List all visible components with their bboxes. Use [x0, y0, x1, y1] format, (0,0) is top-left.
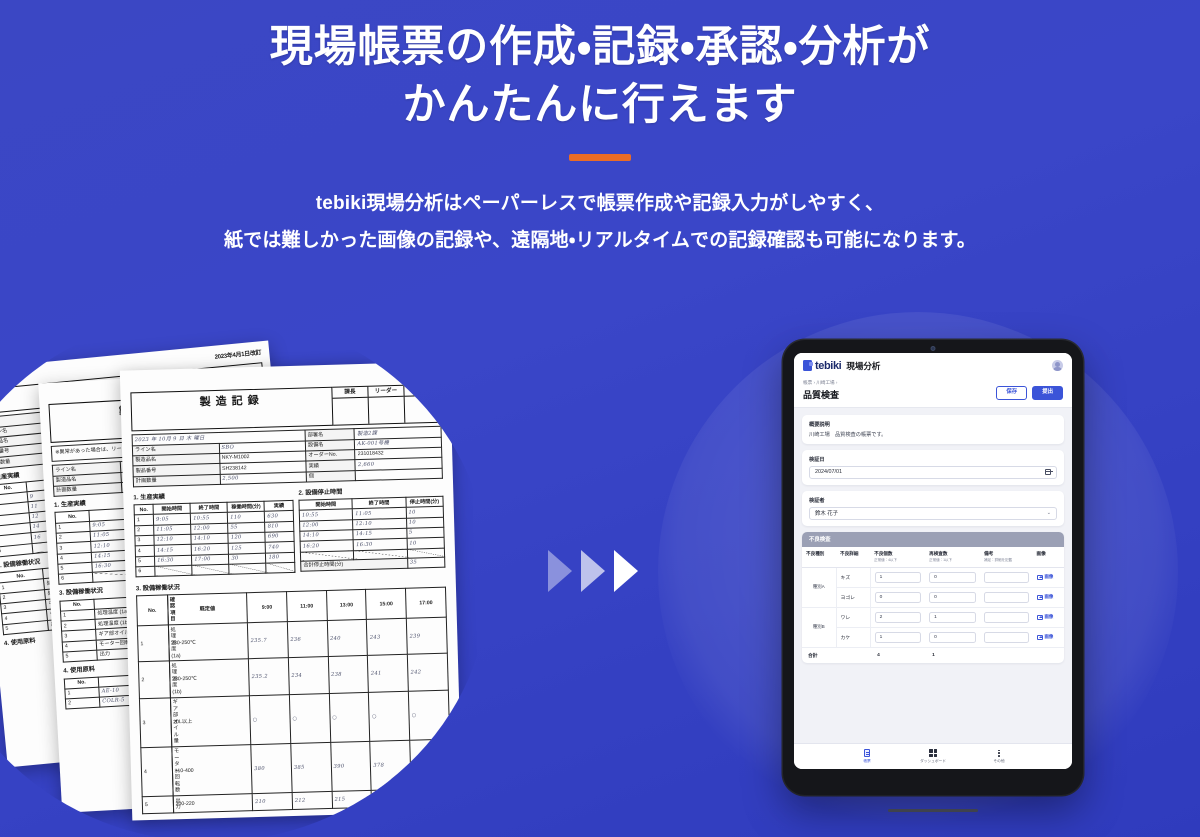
paper-s3f-t4: 17:00 [406, 588, 447, 619]
defect-col-detail-title: 不良詳細 [840, 551, 858, 556]
defect-image-link[interactable]: 画像 [1037, 594, 1060, 600]
paper-s3f-v: 210 [252, 793, 292, 811]
defect-note-cell [980, 587, 1032, 607]
paper-s1f-no: 4 [135, 546, 154, 557]
defect-image-link[interactable]: 画像 [1037, 614, 1060, 620]
table-row: ヨゴレ 0 0 画像 [802, 587, 1064, 607]
paper-s1m-no: 6 [58, 572, 93, 584]
paper-documents-group: 2023年4月1日改訂 製造記録 年2023 年 10月 9 日 木 曜日 ライ… [0, 312, 490, 837]
defect-col-note-sub: 補足：詳細を記載 [984, 558, 1028, 563]
defect-count-cell: 0 [870, 587, 925, 607]
avatar[interactable] [1052, 360, 1063, 371]
home-indicator [888, 809, 978, 812]
inspector-card: 検証者 鈴木 花子 ⌄ [802, 491, 1064, 526]
defect-col-recheck-title: 再検査数 [929, 551, 947, 556]
defect-recheck-cell: 0 [925, 567, 980, 587]
defect-col-detail: 不良詳細 [836, 547, 870, 568]
save-button[interactable]: 保存 [996, 386, 1027, 399]
defect-table: 不良種別 不良詳細 不良個数 正常値：4以下 再検査数 正常 [802, 547, 1064, 663]
camera-icon [931, 346, 936, 351]
paper-s3f-t0: 9:00 [247, 592, 288, 623]
paper-sheet-front: 2023年4月1日改訂 製造記録 課長 リーダー 担当者 20 [120, 361, 462, 820]
overview-card: 概要説明 川崎工場 品質検査の帳票です。 [802, 415, 1064, 444]
breadcrumb[interactable]: 帳票 › 川崎工場 › [803, 380, 839, 386]
defect-detail-name: ワレ [836, 607, 870, 627]
defect-image-cell: 画像 [1033, 587, 1064, 607]
paper-plan-value-front: 2,500 [220, 472, 307, 485]
nav-label-forms: 帳票 [863, 759, 870, 764]
arrow-icon-3 [614, 550, 638, 592]
paper-s3f-col-2: 既定値 [167, 593, 247, 625]
overview-label: 概要説明 [809, 421, 1057, 428]
paper-s3f-v: 235.2 [249, 658, 290, 695]
image-icon [1037, 635, 1043, 640]
defect-col-note-title: 備考 [984, 551, 993, 556]
image-icon [1037, 615, 1043, 620]
defect-recheck-input[interactable]: 1 [929, 612, 976, 623]
defect-image-cell: 画像 [1033, 607, 1064, 627]
paper-s3f-v: ○ [369, 691, 410, 741]
defect-col-recheck-sub: 正常値：1以下 [929, 558, 976, 563]
app-header: tebiki 現場分析 [794, 353, 1072, 378]
paper-s3f-no: 3 [139, 698, 171, 748]
inspect-date-label: 検証日 [809, 456, 1057, 463]
defect-count-input[interactable]: 1 [875, 632, 922, 643]
defect-image-label: 画像 [1045, 614, 1054, 620]
paper-s3f-v: 234 [288, 657, 329, 694]
nav-label-dashboard: ダッシュボード [920, 759, 946, 764]
paper-s3f-v: 243 [367, 618, 408, 655]
approval-box-front: 課長 リーダー 担当者 [332, 383, 441, 426]
defect-total-note [980, 647, 1032, 663]
paper-s3f-v: 380 [251, 744, 292, 794]
arrow-icon-1 [548, 550, 572, 592]
page-title-line-2: かんたんに行えます [0, 76, 1200, 134]
defect-note-input[interactable] [984, 572, 1028, 583]
defect-note-cell [980, 567, 1032, 587]
paper-s4m-no: 2 [65, 697, 100, 709]
paper-s1f-dur [229, 563, 266, 574]
image-icon [1037, 595, 1043, 600]
nav-item-dashboard[interactable]: ダッシュボード [913, 749, 953, 764]
defect-count-cell: 2 [870, 607, 925, 627]
paper-s1f-act [266, 562, 295, 573]
paper-plan-unit-front: 個 [306, 470, 356, 482]
paper-s3f-t1: 11:00 [286, 591, 327, 622]
tablet-screen: tebiki 現場分析 帳票 › 川崎工場 › 品質検査 保存 提出 概要説明 … [794, 353, 1072, 769]
nav-item-forms[interactable]: 帳票 [847, 749, 887, 764]
inspect-date-value: 2024/07/01 [815, 469, 842, 475]
image-icon [1037, 575, 1043, 580]
nav-item-more[interactable]: その他 [979, 749, 1019, 764]
approval-label-staff-front: 担当者 [404, 384, 439, 397]
paper-s3f-v: ○ [329, 692, 370, 742]
defect-note-cell [980, 627, 1032, 647]
approval-label-leader-front: リーダー [368, 385, 403, 398]
hero-description-line-1: tebiki現場分析はペーパーレスで帳票作成や記録入力がしやすく、 [0, 185, 1200, 222]
defect-col-image-title: 画像 [1037, 551, 1046, 556]
paper-s3f-v: 390 [330, 741, 371, 791]
defect-detail-name: ヨゴレ [836, 587, 870, 607]
defect-total-recheck: 1 [925, 647, 980, 663]
paper-s1f-start [155, 565, 192, 576]
paper-s1f-no: 1 [134, 515, 153, 526]
hero-section: 現場帳票の作成・記録・承認・分析が かんたんに行えます tebiki現場分析はペ… [0, 0, 1200, 259]
paper-s3f-spec: 200-220 [173, 794, 253, 813]
paper-s3f-no: 4 [141, 747, 173, 797]
table-row: 種別A キズ 1 0 画像 [802, 567, 1064, 587]
tablet-device: tebiki 現場分析 帳票 › 川崎工場 › 品質検査 保存 提出 概要説明 … [783, 340, 1083, 795]
defect-table-header-row: 不良種別 不良詳細 不良個数 正常値：4以下 再検査数 正常 [802, 547, 1064, 568]
paper-s3f-v: ○ [289, 693, 330, 743]
paper-s3f-v: 215 [332, 791, 372, 809]
defect-total-label: 合計 [802, 647, 870, 663]
accent-divider [569, 154, 631, 161]
table-row: カケ 1 0 画像 [802, 627, 1064, 647]
page-title-line-1: 現場帳票の作成・記録・承認・分析が [0, 18, 1200, 76]
defect-note-input[interactable] [984, 592, 1028, 603]
paper-s3m-no: 5 [63, 650, 98, 662]
paper-s3f-t3: 15:00 [366, 589, 407, 620]
inspect-date-card: 検証日 2024/07/01 [802, 450, 1064, 485]
transition-arrows [548, 550, 638, 592]
document-icon [864, 749, 870, 757]
defect-group-name: 種別A [802, 567, 836, 607]
defect-recheck-input[interactable]: 0 [929, 632, 976, 643]
paper-s2f-total-value: 35 [407, 557, 445, 568]
paper-s3f-v: 235.7 [248, 622, 289, 659]
defect-detail-name: キズ [836, 567, 870, 587]
inspect-date-input[interactable]: 2024/07/01 [809, 466, 1057, 479]
paper-s2f-total-label: 合計停止時間(分) [301, 558, 408, 571]
paper-s3f-v: ○ [409, 690, 450, 740]
defect-total-count: 4 [870, 647, 925, 663]
paper-s3f-no: 2 [138, 661, 170, 698]
defect-count-input[interactable]: 2 [875, 612, 922, 623]
defect-image-label: 画像 [1045, 594, 1054, 600]
defect-col-recheck: 再検査数 正常値：1以下 [925, 547, 980, 568]
defect-total-image [1033, 647, 1064, 663]
paper-s3f-spec: 20L以上 [170, 695, 251, 746]
approval-col-manager-front: 課長 [332, 386, 368, 425]
chevron-down-icon[interactable]: ⌄ [1047, 510, 1051, 516]
paper-s3f-v: 242 [408, 654, 449, 691]
defect-recheck-input[interactable]: 0 [929, 592, 976, 603]
defect-col-note: 備考 補足：詳細を記載 [980, 547, 1032, 568]
paper-s3f-v: 385 [291, 742, 332, 792]
inspector-select[interactable]: 鈴木 花子 ⌄ [809, 507, 1057, 520]
defect-recheck-cell: 1 [925, 607, 980, 627]
defect-col-count: 不良個数 正常値：4以下 [870, 547, 925, 568]
paper-s3f-v: 239 [407, 617, 448, 654]
page-title: 現場帳票の作成・記録・承認・分析が かんたんに行えます [0, 18, 1200, 134]
form-title: 品質検査 [803, 388, 839, 401]
paper-s1f-no: 5 [135, 556, 154, 567]
defect-group-name: 種別B [802, 607, 836, 647]
form-body: 概要説明 川崎工場 品質検査の帳票です。 検証日 2024/07/01 検証者 … [794, 408, 1072, 670]
defect-col-count-title: 不良個数 [874, 551, 892, 556]
paper-s3f-spec: 310-400 [171, 745, 252, 796]
overview-text: 川崎工場 品質検査の帳票です。 [809, 431, 1057, 438]
app-logo: tebiki 現場分析 [803, 360, 880, 372]
submit-button[interactable]: 提出 [1032, 386, 1063, 399]
paper-s3f-v: 378 [370, 740, 411, 790]
defect-image-link[interactable]: 画像 [1037, 634, 1060, 640]
paper-s3f-col-0: No. [137, 595, 168, 626]
defect-recheck-cell: 0 [925, 587, 980, 607]
defect-count-cell: 1 [870, 627, 925, 647]
paper-s3f-v: 381 [410, 739, 451, 789]
paper-s3f-v: ○ [250, 694, 291, 744]
defect-recheck-input[interactable]: 0 [929, 572, 976, 583]
defect-count-input[interactable]: 1 [875, 572, 922, 583]
defect-note-input[interactable] [984, 612, 1028, 623]
tebiki-logo-icon [803, 360, 812, 371]
defect-recheck-cell: 0 [925, 627, 980, 647]
bottom-navigation: 帳票 ダッシュボード その他 [794, 743, 1072, 769]
page-header: 帳票 › 川崎工場 › 品質検査 保存 提出 [794, 378, 1072, 408]
hero-description: tebiki現場分析はペーパーレスで帳票作成や記録入力がしやすく、 紙では難しか… [0, 185, 1200, 259]
defect-image-link[interactable]: 画像 [1037, 574, 1060, 580]
paper-s3f-v: 236 [287, 621, 328, 658]
defect-image-cell: 画像 [1033, 567, 1064, 587]
paper-s3f-v: 218 [372, 789, 412, 807]
calendar-icon[interactable] [1045, 469, 1051, 475]
paper-s3f-v: 238 [328, 656, 369, 693]
paper-doc-title-front: 製造記録 [130, 386, 333, 432]
paper-s1f-no: 6 [136, 566, 155, 577]
defect-col-type: 不良種別 [802, 547, 836, 568]
defect-table-caption: 不良検査 [802, 532, 1064, 547]
defect-table-card: 不良検査 不良種別 不良詳細 不良個数 正常値：4以下 [802, 532, 1064, 663]
table-row: 種別B ワレ 2 1 画像 [802, 607, 1064, 627]
paper-plan-blank-front [356, 468, 443, 481]
approval-col-staff-front: 担当者 [403, 384, 440, 423]
defect-image-label: 画像 [1045, 574, 1054, 580]
paper-s3f-no: 5 [142, 796, 173, 814]
defect-col-image: 画像 [1033, 547, 1064, 568]
defect-image-cell: 画像 [1033, 627, 1064, 647]
inspector-label: 検証者 [809, 497, 1057, 504]
defect-note-cell [980, 607, 1032, 627]
brand-name: tebiki [815, 360, 841, 372]
paper-s1f-end [192, 564, 229, 575]
defect-detail-name: カケ [836, 627, 870, 647]
approval-col-leader-front: リーダー [367, 385, 404, 424]
paper-s1-no-back: 6 [0, 543, 33, 557]
grid-icon [929, 749, 937, 757]
inspector-value: 鈴木 花子 [815, 509, 838, 517]
paper-s3f-v: 240 [327, 620, 368, 657]
paper-s3f-v: 241 [368, 655, 409, 692]
paper-s3f-t2: 13:00 [326, 590, 367, 621]
paper-s3f-no: 1 [137, 625, 169, 662]
brand-suffix: 現場分析 [846, 360, 880, 372]
defect-col-type-title: 不良種別 [806, 551, 824, 556]
more-dots-icon [998, 749, 1000, 757]
paper-s1f-col-0: No. [134, 504, 153, 515]
approval-label-manager-front: 課長 [332, 386, 367, 399]
nav-label-more: その他 [993, 759, 1004, 764]
defect-count-input[interactable]: 0 [875, 592, 922, 603]
defect-count-cell: 1 [870, 567, 925, 587]
defect-image-label: 画像 [1045, 634, 1054, 640]
paper-plan-label-front: 計画数量 [133, 474, 220, 487]
paper-s3f-v: 212 [292, 792, 332, 810]
defect-total-row: 合計 4 1 [802, 647, 1064, 663]
paper-s1f-no: 3 [135, 535, 154, 546]
header-actions: 保存 提出 [996, 386, 1063, 400]
defect-note-input[interactable] [984, 632, 1028, 643]
arrow-icon-2 [581, 550, 605, 592]
defect-col-count-sub: 正常値：4以下 [874, 558, 921, 563]
paper-s1f-no: 2 [135, 525, 154, 536]
hero-description-line-2: 紙では難しかった画像の記録や、遠隔地・リアルタイムでの記録確認も可能になります。 [0, 222, 1200, 259]
paper-s3f-v: 208 [411, 788, 451, 806]
